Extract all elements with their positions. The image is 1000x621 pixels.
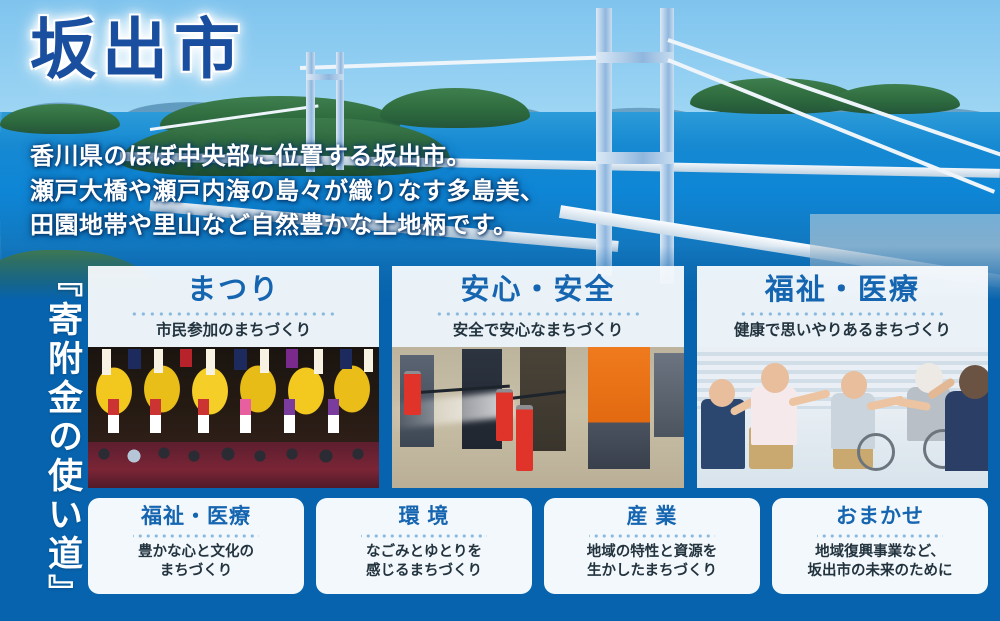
usage-option-description: 地域復興事業など、 坂出市の未来のために <box>808 543 953 580</box>
usage-option-description-line-2: 生かしたまちづくり <box>587 562 718 581</box>
usage-option-description-line-1: 豊かな心と文化の <box>138 543 254 562</box>
usage-option-title: 産 業 <box>627 506 678 528</box>
spectator-crowd <box>88 442 379 488</box>
usage-option-sangyo[interactable]: 産 業 地域の特性と資源を 生かしたまちづくり <box>544 498 760 594</box>
bridge-tower-crossbeam <box>306 74 344 80</box>
theme-card-header: 福祉・医療 健康で思いやりあるまちづくり <box>697 266 988 347</box>
staff-head <box>709 379 735 407</box>
senior-exercise-photo <box>697 347 988 488</box>
instructor-back <box>945 391 988 471</box>
dotted-divider-icon <box>589 534 715 538</box>
theme-card-fukushi-iryo[interactable]: 福祉・医療 健康で思いやりあるまちづくり <box>697 266 988 488</box>
senior-man <box>751 387 797 445</box>
usage-option-description-line-2: 坂出市の未来のために <box>808 562 953 581</box>
usage-option-description-line-1: なごみとゆとりを <box>366 543 482 562</box>
bridge-tower-main <box>596 8 612 276</box>
usage-option-description: なごみとゆとりを 感じるまちづくり <box>366 543 482 580</box>
hero-description-line-1: 香川県のほぼ中央部に位置する坂出市。 <box>30 140 545 175</box>
usage-option-kankyo[interactable]: 環 境 なごみとゆとりを 感じるまちづくり <box>316 498 532 594</box>
dotted-divider-icon <box>817 534 943 538</box>
dotted-divider-icon <box>130 312 337 316</box>
usage-option-description-line-2: 感じるまちづくり <box>366 562 482 581</box>
usage-option-title: 福祉・医療 <box>141 506 251 528</box>
theme-card-header: 安心・安全 安全で安心なまちづくり <box>392 266 683 347</box>
sakaide-city-promo-poster: 坂出市 香川県のほぼ中央部に位置する坂出市。 瀬戸大橋や瀬戸内海の島々が織りなす… <box>0 0 1000 621</box>
usage-option-title: 環 境 <box>399 506 450 528</box>
theme-card-title: 福祉・医療 <box>703 275 982 305</box>
hero-description-line-3: 田園地帯や里山など自然豊かな土地柄です。 <box>30 209 545 244</box>
instructor-head <box>959 365 988 399</box>
usage-option-description-line-2: まちづくり <box>138 562 254 581</box>
theme-card-title: まつり <box>94 275 373 305</box>
bridge-tower-crossbeam <box>596 152 674 164</box>
theme-card-anshin-anzen[interactable]: 安心・安全 安全で安心なまちづくり <box>392 266 683 488</box>
usage-option-description: 地域の特性と資源を 生かしたまちづくり <box>587 543 718 580</box>
fire-extinguisher-drill-photo <box>392 347 683 488</box>
usage-option-description-line-1: 地域の特性と資源を <box>587 543 718 562</box>
donation-usage-vertical-label: 『寄附金の使い道』 <box>24 262 80 610</box>
dotted-divider-icon <box>133 534 259 538</box>
bridge-tower-crossbeam <box>596 52 674 63</box>
senior-man-head <box>761 363 789 393</box>
theme-card-matsuri[interactable]: まつり 市民参加のまちづくり <box>88 266 379 488</box>
bridge-tower-main <box>660 8 674 284</box>
usage-option-omakase[interactable]: おまかせ 地域復興事業など、 坂出市の未来のために <box>772 498 988 594</box>
page-title: 坂出市 <box>30 16 246 82</box>
senior-woman-head <box>841 371 867 399</box>
theme-card-subtitle: 市民参加のまちづくり <box>94 322 373 339</box>
theme-card-header: まつり 市民参加のまちづくり <box>88 266 379 347</box>
theme-card-subtitle: 安全で安心なまちづくり <box>398 322 677 339</box>
hero-description-line-2: 瀬戸大橋や瀬戸内海の島々が織りなす多島美、 <box>30 175 545 210</box>
theme-card-row: まつり 市民参加のまちづくり 安心・安全 安全で安心なまちづくり <box>88 266 988 488</box>
usage-option-title: おまかせ <box>836 506 924 528</box>
fire-extinguisher-icon <box>516 405 533 471</box>
usage-option-description: 豊かな心と文化の まちづくり <box>138 543 254 580</box>
dotted-divider-icon <box>361 534 487 538</box>
dotted-divider-icon <box>435 312 642 316</box>
donation-usage-options-row: 福祉・医療 豊かな心と文化の まちづくり 環 境 なごみとゆとりを 感じるまちづ… <box>88 498 988 594</box>
theme-card-subtitle: 健康で思いやりあるまちづくり <box>703 322 982 339</box>
usage-option-description-line-1: 地域復興事業など、 <box>808 543 953 562</box>
fire-extinguisher-icon <box>496 389 513 441</box>
wheelchair-wheel <box>857 433 895 471</box>
fire-extinguisher-icon <box>404 371 421 415</box>
float-bearers <box>88 399 379 435</box>
float-tassels <box>88 349 379 383</box>
hero-description: 香川県のほぼ中央部に位置する坂出市。 瀬戸大橋や瀬戸内海の島々が織りなす多島美、… <box>30 140 545 244</box>
festival-float-photo <box>88 347 379 488</box>
usage-option-fukushi-iryo[interactable]: 福祉・医療 豊かな心と文化の まちづくり <box>88 498 304 594</box>
dotted-divider-icon <box>739 312 946 316</box>
theme-card-title: 安心・安全 <box>398 275 677 305</box>
